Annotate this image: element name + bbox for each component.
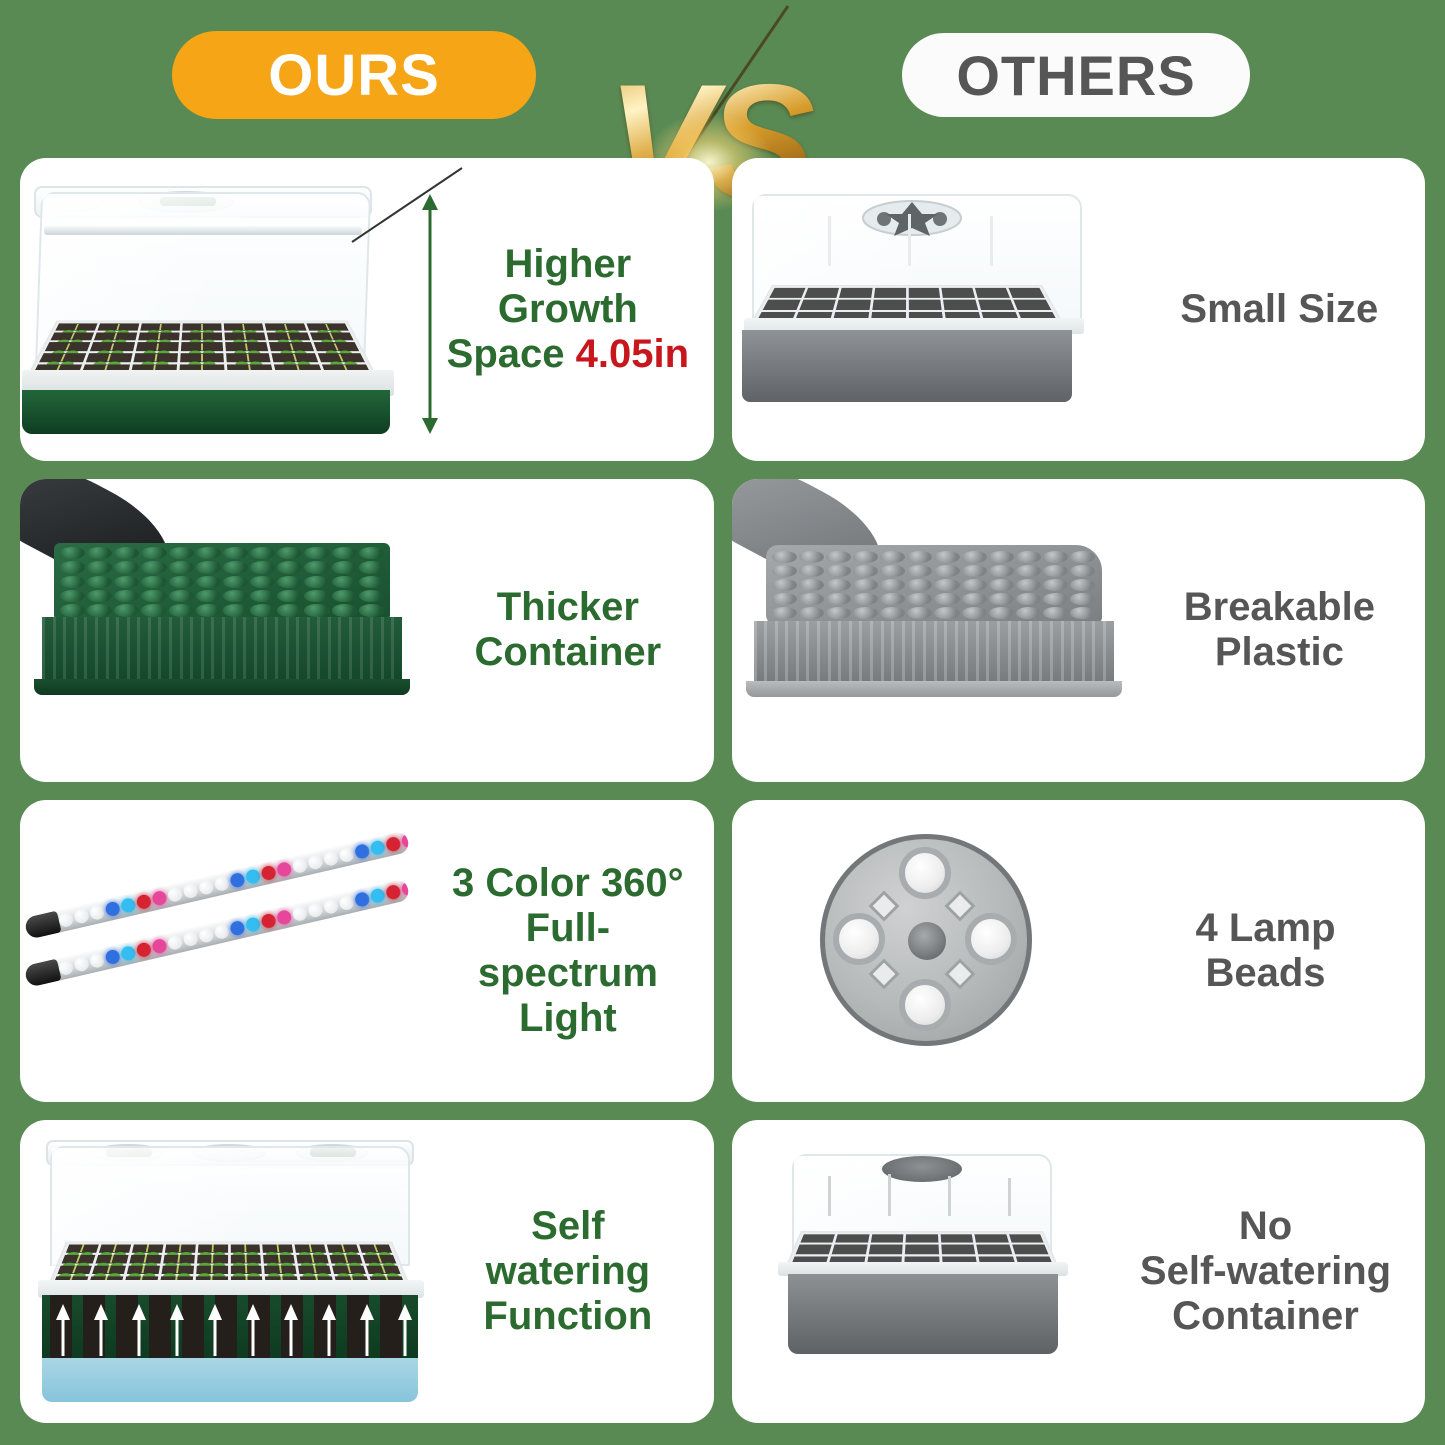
led-bead-red bbox=[260, 864, 277, 881]
label-line-1: 3 Color 360° bbox=[436, 861, 699, 906]
tray-bump bbox=[196, 604, 221, 616]
soil-cell bbox=[1008, 1235, 1043, 1244]
led-bead-pink bbox=[151, 889, 168, 906]
tray-bump bbox=[880, 593, 905, 605]
water-reservoir bbox=[42, 1358, 418, 1402]
soil-cell bbox=[871, 299, 905, 310]
tray-bump bbox=[223, 590, 248, 602]
soil-cell bbox=[310, 333, 354, 341]
round-lamp-illustration bbox=[732, 800, 1106, 1103]
soil-cell bbox=[974, 1235, 1008, 1244]
tray-rib bbox=[955, 621, 958, 685]
card-label-self-watering: Self watering Function bbox=[422, 1204, 713, 1338]
card-label-no-self-watering: No Self-watering Container bbox=[1106, 1204, 1425, 1338]
ours-badge: OURS bbox=[172, 31, 536, 119]
tray-bump bbox=[250, 604, 275, 616]
soil-cell bbox=[941, 288, 974, 298]
tall-dome-seed-tray-illustration bbox=[20, 158, 422, 461]
soil-cell bbox=[92, 1266, 126, 1275]
led-bead-white bbox=[307, 901, 324, 918]
tray-rib bbox=[222, 617, 225, 683]
tray-bump bbox=[934, 579, 959, 591]
led-bead-cyan bbox=[369, 839, 386, 856]
led-bead-white bbox=[198, 926, 215, 943]
tray-bump bbox=[332, 576, 357, 588]
tray-rib bbox=[243, 617, 246, 683]
soil-cell bbox=[265, 323, 306, 330]
label-line-2: watering bbox=[436, 1249, 699, 1294]
tray-bump bbox=[772, 607, 797, 619]
tray-rib bbox=[95, 617, 98, 683]
tray-rib bbox=[63, 617, 66, 683]
card-others-small-size: Small Size bbox=[732, 158, 1426, 461]
tray-bump bbox=[359, 561, 384, 573]
led-bead-pink bbox=[401, 832, 411, 849]
seedling-stem bbox=[948, 1176, 951, 1216]
soil-cell bbox=[306, 323, 349, 330]
tray-rib bbox=[1061, 621, 1064, 685]
soil-cell bbox=[197, 1245, 227, 1253]
soil-cell bbox=[868, 1245, 902, 1254]
soil-cell bbox=[313, 342, 359, 351]
led-bead-row bbox=[57, 881, 406, 976]
label-line-1: 4 Lamp bbox=[1120, 906, 1411, 951]
led-bead-white bbox=[89, 904, 106, 921]
tray-rib bbox=[881, 621, 884, 685]
soil-cell bbox=[132, 1245, 163, 1253]
soil-cell bbox=[835, 1235, 869, 1244]
tray-rib bbox=[806, 621, 809, 685]
soil-cell bbox=[165, 1245, 196, 1253]
label-line-3-prefix: Space bbox=[447, 332, 576, 376]
tray-bump bbox=[359, 604, 384, 616]
soil-cell bbox=[225, 342, 268, 351]
tray-bump bbox=[114, 604, 139, 616]
tray-rib bbox=[328, 617, 331, 683]
label-line-2: Self-watering bbox=[1120, 1249, 1411, 1294]
tray-rib bbox=[1029, 621, 1032, 685]
soil-cell bbox=[226, 353, 271, 362]
tray-rib bbox=[997, 621, 1000, 685]
soil-cell bbox=[230, 1255, 261, 1263]
gray-base-tray bbox=[742, 330, 1072, 402]
tray-rib bbox=[1071, 621, 1074, 685]
led-bead-cyan bbox=[245, 916, 262, 933]
soil-cell bbox=[363, 1255, 397, 1263]
tray-bump bbox=[772, 565, 797, 577]
soil-cell bbox=[57, 1266, 92, 1275]
tray-bump bbox=[169, 547, 194, 559]
tray-bump bbox=[332, 547, 357, 559]
tray-bump bbox=[989, 593, 1014, 605]
water-flow-arrow-icon bbox=[322, 1304, 336, 1356]
led-bead-cyan bbox=[245, 868, 262, 885]
led-bead-white bbox=[213, 875, 230, 892]
seedling-stem bbox=[888, 1174, 891, 1216]
tray-rib bbox=[870, 621, 873, 685]
tray-rib bbox=[923, 621, 926, 685]
tray-bump bbox=[359, 576, 384, 588]
tray-rib bbox=[264, 617, 267, 683]
tray-bump bbox=[304, 590, 329, 602]
led-bead-cyan bbox=[120, 896, 137, 913]
tray-bump bbox=[114, 590, 139, 602]
water-flow-arrow-icon bbox=[132, 1304, 146, 1356]
label-line-1: Small Size bbox=[1148, 287, 1411, 332]
soil-cell bbox=[762, 299, 800, 310]
tray-bump bbox=[989, 607, 1014, 619]
soil-cell bbox=[298, 1266, 331, 1275]
led-bead-white bbox=[58, 911, 75, 928]
tray-rib bbox=[934, 621, 937, 685]
tray-rib bbox=[1018, 621, 1021, 685]
tray-rib bbox=[307, 617, 310, 683]
comparison-grid: Higher Growth Space 4.05in bbox=[0, 150, 1445, 1445]
card-label-full-spectrum-light: 3 Color 360° Full-spectrum Light bbox=[422, 861, 713, 1040]
tray-bump bbox=[277, 547, 302, 559]
led-bead-white bbox=[291, 905, 308, 922]
soil-cell bbox=[161, 1266, 193, 1275]
tray-bump bbox=[880, 607, 905, 619]
tray-rib bbox=[338, 617, 341, 683]
card-label-breakable-plastic: Breakable Plastic bbox=[1134, 585, 1425, 675]
tray-bump bbox=[1043, 593, 1068, 605]
soil-cell bbox=[905, 1245, 939, 1254]
soil-cell bbox=[135, 342, 178, 351]
soil-cell bbox=[1008, 288, 1044, 298]
label-line-3: Container bbox=[1120, 1294, 1411, 1339]
soil-cell bbox=[366, 1266, 401, 1275]
round-lamp-body bbox=[820, 834, 1032, 1046]
soil-cell bbox=[39, 353, 87, 362]
tray-bump bbox=[989, 579, 1014, 591]
soil-cell bbox=[769, 288, 805, 298]
card-others-breakable-plastic: Breakable Plastic bbox=[732, 479, 1426, 782]
seedling-stem bbox=[828, 1176, 831, 1216]
ours-badge-label: OURS bbox=[268, 42, 440, 109]
soil-cell bbox=[129, 1255, 161, 1263]
led-bead-red bbox=[136, 941, 153, 958]
led-bead-red bbox=[385, 883, 402, 900]
tray-rib bbox=[254, 617, 257, 683]
tray-rib bbox=[1008, 621, 1011, 685]
label-line-1: Breakable bbox=[1148, 585, 1411, 630]
growth-space-value: 4.05in bbox=[576, 332, 689, 376]
tray-bump bbox=[1016, 579, 1041, 591]
soil-cell bbox=[181, 342, 224, 351]
tray-bump bbox=[934, 565, 959, 577]
tray-bump bbox=[359, 547, 384, 559]
soil-cell bbox=[55, 323, 98, 330]
tray-rib bbox=[106, 617, 109, 683]
soil-cell bbox=[98, 323, 139, 330]
tray-bump bbox=[87, 604, 112, 616]
seedling-stem bbox=[1008, 1178, 1011, 1216]
tray-rib bbox=[944, 621, 947, 685]
soil-cell bbox=[181, 333, 222, 341]
card-label-growth-space: Higher Growth Space 4.05in bbox=[422, 242, 713, 376]
bump-pattern bbox=[60, 547, 384, 617]
led-bead-row bbox=[57, 833, 406, 928]
tray-rib bbox=[42, 617, 45, 683]
tray-bump bbox=[907, 551, 932, 563]
label-line-1: Self bbox=[436, 1204, 699, 1249]
tray-bump bbox=[772, 579, 797, 591]
soil-cell bbox=[62, 1255, 96, 1263]
tray-bump bbox=[60, 576, 85, 588]
tray-bump bbox=[853, 565, 878, 577]
soil-cell bbox=[943, 299, 978, 310]
water-flow-arrow-icon bbox=[284, 1304, 298, 1356]
soil-cell bbox=[230, 1266, 262, 1275]
tray-bump bbox=[277, 590, 302, 602]
soil-cell bbox=[332, 1266, 366, 1275]
strip-end-cap bbox=[24, 958, 62, 987]
card-ours-self-watering: Self watering Function bbox=[20, 1120, 714, 1423]
tray-rib bbox=[317, 617, 320, 683]
led-bead-white bbox=[89, 952, 106, 969]
led-bead-cyan bbox=[120, 944, 137, 961]
tray-bump bbox=[799, 565, 824, 577]
bump-pattern bbox=[772, 551, 1096, 619]
tray-rib bbox=[286, 617, 289, 683]
tray-bottom-lip bbox=[34, 679, 410, 695]
tray-bump bbox=[989, 565, 1014, 577]
tray-rib bbox=[796, 621, 799, 685]
tray-bump bbox=[141, 561, 166, 573]
soil-cell bbox=[976, 1245, 1011, 1254]
tray-bump bbox=[826, 579, 851, 591]
tray-bump bbox=[853, 579, 878, 591]
lamp-diamond-bottom-right bbox=[944, 958, 975, 989]
tray-bump bbox=[250, 576, 275, 588]
soil-cell bbox=[263, 1255, 295, 1263]
tray-bump bbox=[196, 547, 221, 559]
led-bead-white bbox=[73, 955, 90, 972]
soil-cell bbox=[1013, 299, 1051, 310]
seedling-stem bbox=[828, 216, 831, 266]
lamp-bead-left bbox=[833, 913, 885, 965]
tray-rib bbox=[391, 617, 394, 683]
soil-cell bbox=[90, 342, 134, 351]
tray-bump bbox=[826, 607, 851, 619]
tray-bump bbox=[304, 547, 329, 559]
soil-cell bbox=[800, 1235, 835, 1244]
soil-cell bbox=[940, 1235, 973, 1244]
tray-bump bbox=[114, 547, 139, 559]
led-bead-pink bbox=[151, 937, 168, 954]
water-flow-arrow-icon bbox=[56, 1304, 70, 1356]
tray-bump bbox=[962, 579, 987, 591]
tray-bump bbox=[907, 579, 932, 591]
tray-bump bbox=[853, 607, 878, 619]
rib-lines bbox=[42, 617, 402, 683]
tray-bump bbox=[1070, 565, 1095, 577]
soil-cell bbox=[835, 299, 870, 310]
tray-bump bbox=[60, 547, 85, 559]
soil-cell bbox=[838, 288, 871, 298]
tray-bump bbox=[934, 593, 959, 605]
self-watering-cutaway-illustration bbox=[20, 1120, 422, 1423]
tray-bump bbox=[1043, 551, 1068, 563]
soil-cell bbox=[269, 342, 313, 351]
water-flow-arrow-icon bbox=[360, 1304, 374, 1356]
tray-bump bbox=[880, 579, 905, 591]
tray-bump bbox=[962, 551, 987, 563]
hand-pressing-gray-tray-illustration bbox=[732, 479, 1134, 782]
water-flow-arrow-icon bbox=[94, 1304, 108, 1356]
tray-bump bbox=[60, 604, 85, 616]
tray-bump bbox=[87, 590, 112, 602]
tray-bump bbox=[772, 551, 797, 563]
card-ours-growth-space: Higher Growth Space 4.05in bbox=[20, 158, 714, 461]
tray-bump bbox=[169, 604, 194, 616]
card-others-no-self-watering: No Self-watering Container bbox=[732, 1120, 1426, 1423]
tray-rib bbox=[754, 621, 757, 685]
tray-bump bbox=[1070, 593, 1095, 605]
soil-cell bbox=[978, 299, 1015, 310]
soil-cell bbox=[230, 1245, 260, 1253]
tray-rib bbox=[828, 621, 831, 685]
soil-cell bbox=[99, 1245, 131, 1253]
tray-bump bbox=[141, 604, 166, 616]
soil-cell bbox=[196, 1266, 228, 1275]
tray-rib bbox=[158, 617, 161, 683]
green-base-tray bbox=[22, 390, 390, 434]
tray-rib bbox=[775, 621, 778, 685]
seedling-stem bbox=[990, 216, 993, 266]
soil-cell bbox=[94, 333, 137, 341]
tray-rib bbox=[296, 617, 299, 683]
tray-bump bbox=[1070, 607, 1095, 619]
green-tray-body bbox=[34, 543, 410, 713]
led-bead-white bbox=[307, 853, 324, 870]
tray-bump bbox=[1043, 565, 1068, 577]
tray-bump bbox=[304, 604, 329, 616]
soil-cell bbox=[140, 323, 180, 330]
tray-bump bbox=[196, 590, 221, 602]
tray-bump bbox=[962, 565, 987, 577]
soil-cell bbox=[66, 1245, 99, 1253]
card-label-thicker-container: Thicker Container bbox=[422, 585, 713, 675]
led-bead-blue bbox=[354, 890, 371, 907]
led-bead-red bbox=[260, 912, 277, 929]
tray-bump bbox=[1016, 551, 1041, 563]
tray-bump bbox=[223, 604, 248, 616]
tray-rib bbox=[849, 621, 852, 685]
tray-bump bbox=[1043, 579, 1068, 591]
label-line-1: Thicker bbox=[436, 585, 699, 630]
soil-cell bbox=[86, 353, 132, 362]
soil-cell bbox=[267, 333, 310, 341]
gray-solid-tray bbox=[788, 1274, 1058, 1354]
tray-bump bbox=[141, 576, 166, 588]
tray-bump bbox=[799, 579, 824, 591]
soil-cell bbox=[95, 1255, 128, 1263]
led-bead-blue bbox=[229, 919, 246, 936]
soil-cell bbox=[908, 288, 940, 298]
led-bead-white bbox=[213, 923, 230, 940]
led-bead-white bbox=[323, 850, 340, 867]
tray-bump bbox=[141, 590, 166, 602]
tray-rib bbox=[190, 617, 193, 683]
tray-bump bbox=[880, 565, 905, 577]
label-line-2: Growth bbox=[436, 287, 699, 332]
soil-cell bbox=[804, 288, 839, 298]
hand-pressing-green-tray-illustration bbox=[20, 479, 422, 782]
water-flow-arrow-icon bbox=[170, 1304, 184, 1356]
soil-cell bbox=[133, 353, 178, 362]
tray-bump bbox=[880, 551, 905, 563]
tray-rib bbox=[349, 617, 352, 683]
led-strips-illustration bbox=[20, 800, 422, 1103]
tray-bump bbox=[196, 576, 221, 588]
soil-cell bbox=[317, 353, 365, 362]
tray-bump bbox=[304, 576, 329, 588]
tray-bump bbox=[223, 561, 248, 573]
soil-cell bbox=[197, 1255, 228, 1263]
soil-cell bbox=[1011, 1245, 1047, 1254]
tray-rib bbox=[137, 617, 140, 683]
tray-bump bbox=[114, 576, 139, 588]
tray-bump bbox=[250, 590, 275, 602]
soil-cell bbox=[975, 288, 1010, 298]
tray-bump bbox=[989, 551, 1014, 563]
tray-rib bbox=[838, 621, 841, 685]
led-bead-white bbox=[338, 894, 355, 911]
star-vent-icon bbox=[862, 198, 962, 238]
soil-cell bbox=[182, 323, 222, 330]
soil-cell bbox=[180, 353, 224, 362]
tray-rib bbox=[986, 621, 989, 685]
tray-rib bbox=[1092, 621, 1095, 685]
led-bead-pink bbox=[401, 880, 411, 897]
label-line-3: Function bbox=[436, 1294, 699, 1339]
rib-lines-warped bbox=[754, 621, 1114, 685]
lamp-diamond-top-right bbox=[944, 890, 975, 921]
card-ours-thicker-container: Thicker Container bbox=[20, 479, 714, 782]
tray-bump bbox=[853, 593, 878, 605]
led-bead-white bbox=[182, 882, 199, 899]
tray-bump bbox=[60, 590, 85, 602]
tray-bump bbox=[87, 547, 112, 559]
soil-cell bbox=[795, 1245, 831, 1254]
soil-cell bbox=[127, 1266, 160, 1275]
label-line-1: No bbox=[1120, 1204, 1411, 1249]
soil-cell bbox=[138, 333, 180, 341]
soil-cell bbox=[870, 1235, 903, 1244]
tray-bump bbox=[223, 547, 248, 559]
tray-rib bbox=[74, 617, 77, 683]
tray-rib bbox=[169, 617, 172, 683]
tray-rib bbox=[785, 621, 788, 685]
tray-rib bbox=[902, 621, 905, 685]
tray-bump bbox=[332, 604, 357, 616]
strip-end-cap bbox=[24, 910, 62, 939]
card-others-lamp-beads: 4 Lamp Beads bbox=[732, 800, 1426, 1103]
tray-bump bbox=[114, 561, 139, 573]
tray-rib bbox=[764, 621, 767, 685]
soil-cell bbox=[873, 288, 905, 298]
others-badge-label: OTHERS bbox=[956, 43, 1195, 108]
tray-rib bbox=[53, 617, 56, 683]
label-line-2: Container bbox=[436, 630, 699, 675]
tray-rib bbox=[201, 617, 204, 683]
tray-bump bbox=[196, 561, 221, 573]
plain-gray-tray-illustration bbox=[732, 1120, 1106, 1423]
soil-cell bbox=[163, 1255, 195, 1263]
card-label-lamp-beads: 4 Lamp Beads bbox=[1106, 906, 1425, 996]
